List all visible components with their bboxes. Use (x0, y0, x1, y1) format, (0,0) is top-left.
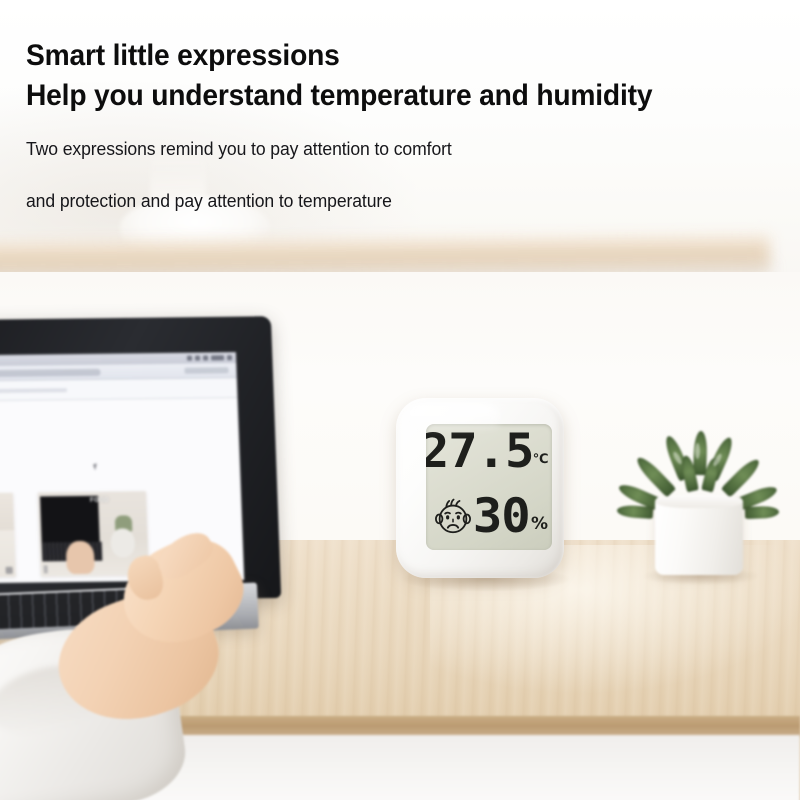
headline-line-1: Smart little expressions (26, 36, 722, 76)
percent-unit-icon: % (531, 514, 548, 534)
temperature-reading: 27.5 ℃ (430, 428, 548, 486)
humidity-value: 30 (473, 493, 530, 540)
person-arm (0, 560, 300, 800)
thumbnail-overlay-text: FOOD (90, 498, 109, 504)
lcd-screen: 27.5 ℃ (426, 424, 552, 550)
headline-line-2: Help you understand temperature and humi… (26, 76, 722, 116)
plant-pot-rim (655, 495, 743, 508)
product-banner-scene: FOOD (0, 0, 800, 800)
cursor-icon (93, 463, 99, 470)
battery-icon (203, 355, 208, 360)
subcopy-line-2: and protection and pay attention to temp… (26, 182, 729, 220)
subcopy-line-1: Two expressions remind you to pay attent… (26, 130, 729, 168)
clock-icon (211, 355, 224, 360)
search-icon (227, 355, 232, 360)
browser-address-bar (0, 369, 101, 377)
humidity-reading: 30 % (430, 486, 548, 546)
volume-icon (195, 356, 200, 361)
wifi-icon (187, 356, 192, 361)
browser-toolbar-icons (184, 367, 228, 374)
plant-pot (655, 497, 743, 575)
menu-bar-status-items (187, 355, 232, 361)
plant-leaf-highlight (695, 443, 700, 459)
temperature-value: 27.5 (426, 428, 533, 475)
succulent-plant (635, 425, 765, 585)
celsius-unit-icon: ℃ (533, 452, 548, 467)
thermo-hygrometer-device: 27.5 ℃ (396, 398, 574, 598)
thumbnail-inner-vase (111, 528, 136, 557)
device-body: 27.5 ℃ (396, 398, 564, 578)
marketing-copy-block: Smart little expressions Help you unders… (26, 36, 766, 220)
